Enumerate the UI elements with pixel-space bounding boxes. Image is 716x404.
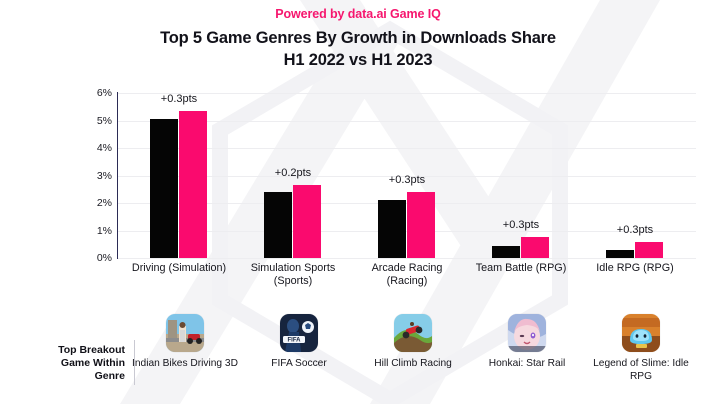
bar-h1-2023[interactable] [179, 111, 207, 258]
delta-annotation: +0.3pts [122, 93, 236, 105]
breakout-game-cell[interactable]: Honkai: Star Rail [464, 306, 590, 371]
delta-annotation: +0.3pts [578, 224, 692, 236]
y-axis-tick-labels: 6%5%4%3%2%1%0% [74, 93, 112, 258]
delta-annotation: +0.3pts [464, 219, 578, 231]
y-axis-tick-6: 6% [78, 88, 112, 98]
x-axis-category-label: Simulation Sports(Sports) [230, 262, 356, 288]
y-axis-tick-4: 4% [78, 143, 112, 153]
bar-h1-2022[interactable] [378, 200, 406, 258]
x-axis-category-label: Arcade Racing(Racing) [344, 262, 470, 288]
breakout-game-cell[interactable]: Legend of Slime: Idle RPG [578, 306, 704, 383]
bar-group: +0.3ptsArcade Racing(Racing) [350, 93, 464, 258]
svg-text:FIFA: FIFA [288, 338, 302, 344]
bar-group: +0.3ptsTeam Battle (RPG) [464, 93, 578, 258]
delta-annotation: +0.3pts [350, 174, 464, 186]
x-axis-category-label: Team Battle (RPG) [458, 262, 584, 275]
page-title: Top 5 Game Genres By Growth in Downloads… [0, 27, 716, 71]
x-axis-category-label: Driving (Simulation) [116, 262, 242, 275]
indian-bikes-driving-3d-icon[interactable] [166, 314, 204, 352]
bar-chart-plot-area: +0.3ptsDriving (Simulation)+0.2ptsSimula… [118, 93, 696, 258]
y-axis-tick-5: 5% [78, 116, 112, 126]
breakout-game-name: Indian Bikes Driving 3D [122, 358, 248, 371]
hill-climb-racing-icon[interactable] [394, 314, 432, 352]
breakout-game-cell[interactable]: Indian Bikes Driving 3D [122, 306, 248, 371]
legend-of-slime-idle-rpg-icon[interactable] [622, 314, 660, 352]
breakout-game-name: Legend of Slime: Idle RPG [578, 358, 704, 383]
y-axis-line [117, 92, 118, 259]
y-axis-tick-3: 3% [78, 171, 112, 181]
bar-h1-2023[interactable] [407, 192, 435, 258]
bar-h1-2023[interactable] [521, 237, 549, 258]
y-axis-tick-1: 1% [78, 226, 112, 236]
bar-h1-2023[interactable] [293, 185, 321, 258]
breakout-game-cell[interactable]: FIFAFIFA Soccer [236, 306, 362, 371]
bar-h1-2022[interactable] [150, 119, 178, 258]
chart-header: Powered by data.ai Game IQ Top 5 Game Ge… [0, 0, 716, 71]
bar-h1-2023[interactable] [635, 242, 663, 259]
bar-group: +0.3ptsIdle RPG (RPG) [578, 93, 692, 258]
breakout-caption-line-3: Genre [95, 370, 125, 382]
breakout-caption: Top Breakout Game Within Genre [30, 344, 125, 383]
top-breakout-games-row: Top Breakout Game Within Genre Indian Bi… [0, 306, 716, 404]
breakout-game-name: FIFA Soccer [236, 358, 362, 371]
breakout-game-name: Honkai: Star Rail [464, 358, 590, 371]
bar-h1-2022[interactable] [492, 246, 520, 258]
breakout-game-cell[interactable]: Hill Climb Racing [350, 306, 476, 371]
breakout-game-name: Hill Climb Racing [350, 358, 476, 371]
fifa-soccer-icon[interactable]: FIFA [280, 314, 318, 352]
gridline [118, 258, 696, 259]
delta-annotation: +0.2pts [236, 167, 350, 179]
chart-title-line-2: H1 2022 vs H1 2023 [0, 49, 716, 71]
y-axis-tick-0: 0% [78, 253, 112, 263]
bar-group: +0.3ptsDriving (Simulation) [122, 93, 236, 258]
chart-title-line-1: Top 5 Game Genres By Growth in Downloads… [160, 29, 556, 47]
bar-h1-2022[interactable] [606, 250, 634, 258]
y-axis-tick-2: 2% [78, 198, 112, 208]
bar-h1-2022[interactable] [264, 192, 292, 258]
breakout-caption-line-1: Top Breakout [58, 344, 125, 356]
bar-group: +0.2ptsSimulation Sports(Sports) [236, 93, 350, 258]
breakout-caption-line-2: Game Within [61, 357, 125, 369]
powered-by-label: Powered by data.ai Game IQ [0, 7, 716, 22]
honkai-star-rail-icon[interactable] [508, 314, 546, 352]
x-axis-category-label: Idle RPG (RPG) [572, 262, 698, 275]
